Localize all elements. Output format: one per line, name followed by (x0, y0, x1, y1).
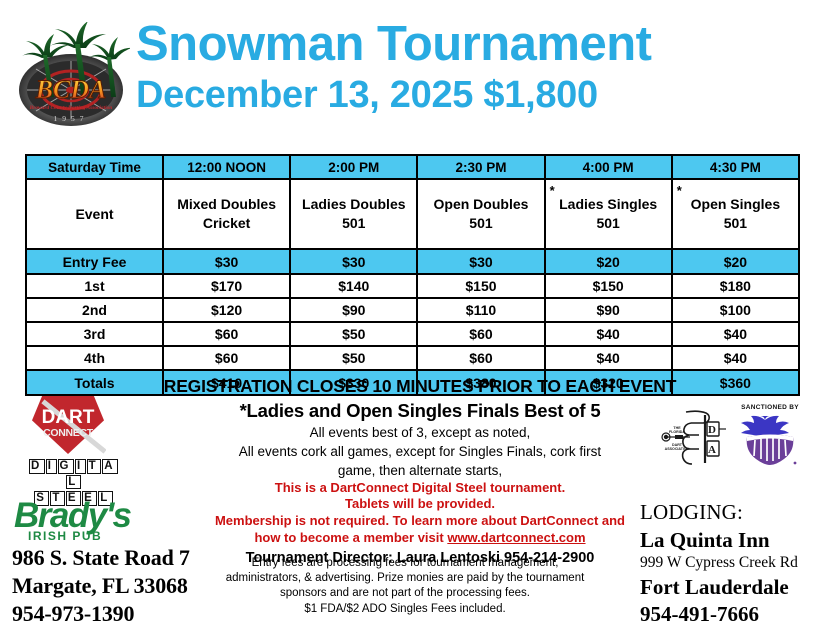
lodging-phone: 954-491-7666 (640, 602, 825, 628)
cell-event-1-line1: Ladies Doubles (293, 195, 414, 214)
cell-event-2: Open Doubles 501 (417, 179, 544, 249)
note-visit-prefix: how to become a member visit (254, 530, 447, 545)
dartconnect-flight-icon: DART CONNECT (32, 396, 104, 458)
fda-line-florida: FLORIDA (669, 430, 685, 434)
cell-event-0-line1: Mixed Doubles (166, 195, 287, 214)
cell-fee-4: $20 (672, 249, 799, 274)
ds-d: D (29, 459, 45, 474)
cell-event-0-line2: Cricket (166, 214, 287, 233)
note-dartconnect-line1: This is a DartConnect Digital Steel tour… (120, 480, 720, 497)
fineprint-line3: sponsors and are not part of the process… (205, 586, 605, 601)
cell-2nd-4: $100 (672, 298, 799, 322)
cell-event-0: Mixed Doubles Cricket (163, 179, 290, 249)
note-tablets-provided: Tablets will be provided. (120, 496, 720, 513)
ds-g: G (58, 459, 74, 474)
page-subtitle: December 13, 2025 $1,800 (136, 75, 652, 116)
fineprint-line2: administrators, & advertising. Prize mon… (205, 571, 605, 586)
cell-4th-0: $60 (163, 346, 290, 370)
venue-street: 986 S. State Road 7 (12, 544, 212, 572)
cell-event-3: * Ladies Singles 501 (545, 179, 672, 249)
cell-time-1: 2:00 PM (290, 155, 417, 179)
cell-time-3: 4:00 PM (545, 155, 672, 179)
cell-3rd-1: $50 (290, 322, 417, 346)
cell-event-3-line1: Ladies Singles (548, 195, 669, 214)
fineprint-line4: $1 FDA/$2 ADO Singles Fees included. (205, 602, 605, 617)
cell-fee-0: $30 (163, 249, 290, 274)
cell-event-3-line2: 501 (548, 214, 669, 233)
row-label-2nd: 2nd (26, 298, 163, 322)
cell-fee-1: $30 (290, 249, 417, 274)
venue-citystate: Margate, FL 33068 (12, 572, 212, 600)
table-row-time: Saturday Time 12:00 NOON 2:00 PM 2:30 PM… (26, 155, 799, 179)
table-row-event: Event Mixed Doubles Cricket Ladies Doubl… (26, 179, 799, 249)
fineprint-line1: Entry fees are processing fees for tourn… (205, 556, 605, 571)
bcda-logo-graphic: BCDA Broward County Darting Association … (12, 22, 130, 134)
fda-letter-a: A (708, 444, 716, 456)
note-format-line2: All events cork all games, except for Si… (120, 444, 720, 461)
venue-phone: 954-973-1390 (12, 600, 212, 628)
ado-eagle-icon (735, 412, 805, 466)
row-label-entry-fee: Entry Fee (26, 249, 163, 274)
table-row-4th: 4th $60 $50 $60 $40 $40 (26, 346, 799, 370)
ds-i: I (46, 459, 57, 474)
cell-4th-3: $40 (545, 346, 672, 370)
bcda-wordmark: BCDA (35, 75, 107, 104)
bradys-irish-pub-logo: Brady's IRISH PUB (14, 498, 164, 543)
digital-steel-digital: DIGITAL (22, 459, 126, 490)
cell-fee-2: $30 (417, 249, 544, 274)
note-registration-closes: REGISTRATION CLOSES 10 MINUTES PRIOR TO … (120, 376, 720, 398)
cell-fee-3: $20 (545, 249, 672, 274)
dartconnect-link[interactable]: www.dartconnect.com (447, 530, 585, 545)
asterisk-4: * (677, 182, 682, 200)
lodging-title: LODGING: (640, 500, 825, 526)
note-format-line1: All events best of 3, except as noted, (120, 425, 720, 442)
schedule-table: Saturday Time 12:00 NOON 2:00 PM 2:30 PM… (25, 154, 800, 396)
asterisk-3: * (550, 182, 555, 200)
bcda-year: 1957 (54, 114, 89, 123)
cell-2nd-2: $110 (417, 298, 544, 322)
cell-3rd-2: $60 (417, 322, 544, 346)
cell-time-0: 12:00 NOON (163, 155, 290, 179)
lodging-hotel-name: La Quinta Inn (640, 528, 825, 554)
table-row-entry-fee: Entry Fee $30 $30 $30 $20 $20 (26, 249, 799, 274)
bcda-logo: BCDA Broward County Darting Association … (12, 22, 130, 134)
cell-4th-4: $40 (672, 346, 799, 370)
table-row-1st: 1st $170 $140 $150 $150 $180 (26, 274, 799, 298)
cell-3rd-3: $40 (545, 322, 672, 346)
cell-event-2-line2: 501 (420, 214, 541, 233)
cell-1st-3: $150 (545, 274, 672, 298)
dartconnect-connect-word: CONNECT (32, 427, 104, 440)
lodging-city: Fort Lauderdale (640, 575, 825, 601)
cell-event-2-line1: Open Doubles (420, 195, 541, 214)
tournament-notes: REGISTRATION CLOSES 10 MINUTES PRIOR TO … (120, 376, 720, 568)
dartconnect-logo: DART CONNECT DIGITAL STEEL (22, 396, 126, 488)
ado-sanctioned-logo: SANCTIONED BY (735, 404, 805, 470)
lodging-block: LODGING: La Quinta Inn 999 W Cypress Cre… (640, 500, 825, 627)
lodging-address: 999 W Cypress Creek Rd (640, 554, 825, 573)
cell-time-4: 4:30 PM (672, 155, 799, 179)
cell-3rd-0: $60 (163, 322, 290, 346)
fda-logo-graphic: THE FLORIDA DART ASSOCIATION D A (658, 408, 730, 470)
cell-event-1-line2: 501 (293, 214, 414, 233)
cell-2nd-1: $90 (290, 298, 417, 322)
cell-event-1: Ladies Doubles 501 (290, 179, 417, 249)
cell-event-4-line2: 501 (675, 214, 796, 233)
ds-a: A (102, 459, 118, 474)
cell-time-2: 2:30 PM (417, 155, 544, 179)
row-label-4th: 4th (26, 346, 163, 370)
bradys-subtitle: IRISH PUB (28, 529, 164, 543)
table-row-2nd: 2nd $120 $90 $110 $90 $100 (26, 298, 799, 322)
row-label-3rd: 3rd (26, 322, 163, 346)
venue-address: 986 S. State Road 7 Margate, FL 33068 95… (12, 544, 212, 628)
row-label-saturday-time: Saturday Time (26, 155, 163, 179)
row-label-event: Event (26, 179, 163, 249)
note-singles-finals: *Ladies and Open Singles Finals Best of … (120, 399, 720, 423)
dartconnect-dart-word: DART (32, 408, 104, 427)
fda-logo: THE FLORIDA DART ASSOCIATION D A (658, 408, 730, 470)
bcda-tagline: Broward County Darting Association (29, 105, 113, 111)
cell-1st-0: $170 (163, 274, 290, 298)
bradys-name: Brady's (14, 498, 164, 533)
ds-t: T (87, 459, 102, 474)
fda-letter-d: D (708, 424, 716, 436)
title-block: Snowman Tournament December 13, 2025 $1,… (136, 18, 652, 116)
fineprint-block: Entry fees are processing fees for tourn… (205, 556, 605, 617)
cell-1st-1: $140 (290, 274, 417, 298)
cell-1st-4: $180 (672, 274, 799, 298)
ds-l: L (66, 475, 81, 490)
page-title: Snowman Tournament (136, 18, 652, 71)
ado-caption: SANCTIONED BY (735, 404, 805, 411)
note-format-line3: game, then alternate starts, (120, 463, 720, 480)
note-membership-line: Membership is not required. To learn mor… (120, 513, 720, 530)
fda-line-association: ASSOCIATION (665, 447, 690, 451)
cell-event-4: * Open Singles 501 (672, 179, 799, 249)
cell-1st-2: $150 (417, 274, 544, 298)
dartconnect-wordmark: DART CONNECT (32, 408, 104, 440)
cell-3rd-4: $40 (672, 322, 799, 346)
table-row-3rd: 3rd $60 $50 $60 $40 $40 (26, 322, 799, 346)
page-header: BCDA Broward County Darting Association … (0, 0, 825, 148)
cell-4th-2: $60 (417, 346, 544, 370)
cell-2nd-3: $90 (545, 298, 672, 322)
cell-2nd-0: $120 (163, 298, 290, 322)
cell-event-4-line1: Open Singles (675, 195, 796, 214)
cell-4th-1: $50 (290, 346, 417, 370)
row-label-1st: 1st (26, 274, 163, 298)
ds-i2: I (75, 459, 86, 474)
